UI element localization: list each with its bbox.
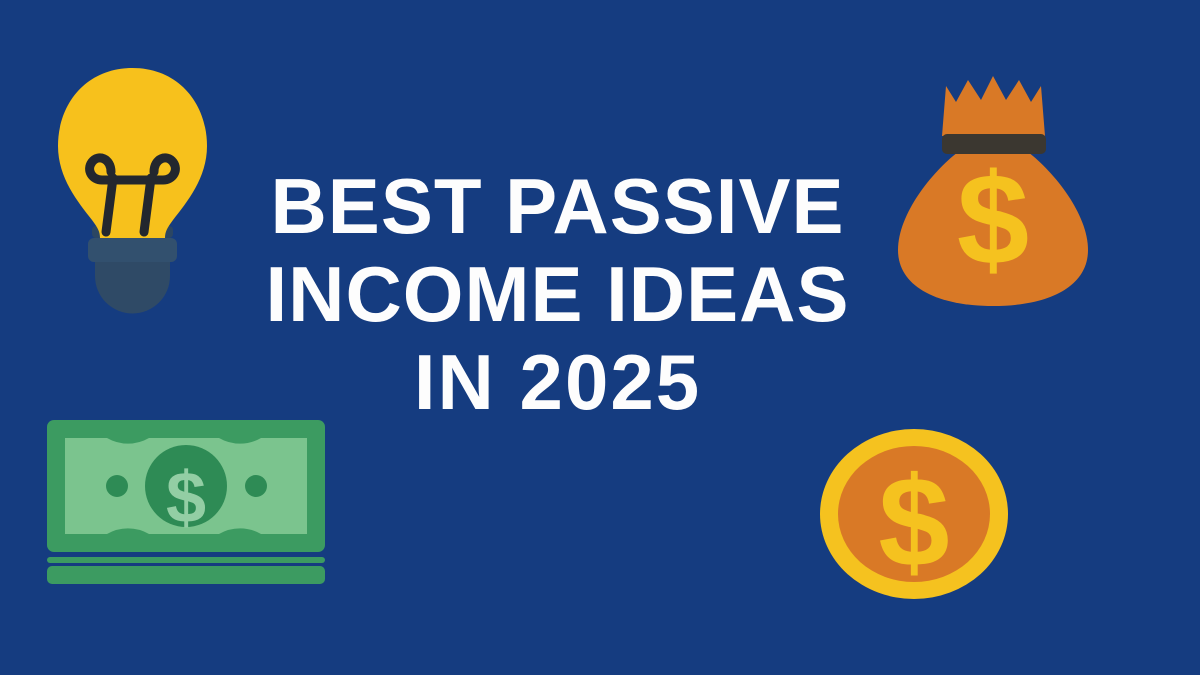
lightbulb-base-bar [88, 238, 177, 262]
banknote-icon: $ [45, 418, 335, 588]
svg-text:$: $ [957, 146, 1029, 292]
money-bag-icon: $ [888, 64, 1098, 312]
lightbulb-icon [40, 62, 225, 314]
thumbnail-canvas: $ $ $ BEST PASSIV [0, 0, 1200, 675]
money-bag-dollar-symbol: $ [957, 146, 1029, 292]
lightbulb-base-cap [95, 258, 170, 314]
dollar-coin-icon: $ [818, 428, 1010, 600]
coin-dollar-symbol: $ [878, 451, 949, 594]
banknote-stack-bar [47, 566, 325, 584]
banknote-dot-left [106, 475, 128, 497]
banknote-dollar-symbol: $ [166, 458, 206, 538]
lightbulb-glass [58, 68, 207, 238]
page-title: BEST PASSIVE INCOME IDEAS IN 2025 [245, 162, 870, 426]
title-line-1: BEST PASSIVE [245, 162, 870, 250]
title-line-2: INCOME IDEAS [245, 250, 870, 338]
banknote-dot-right [245, 475, 267, 497]
banknote-stack-line [47, 557, 325, 563]
title-line-3: IN 2025 [245, 338, 870, 426]
money-bag-crown [942, 76, 1045, 136]
